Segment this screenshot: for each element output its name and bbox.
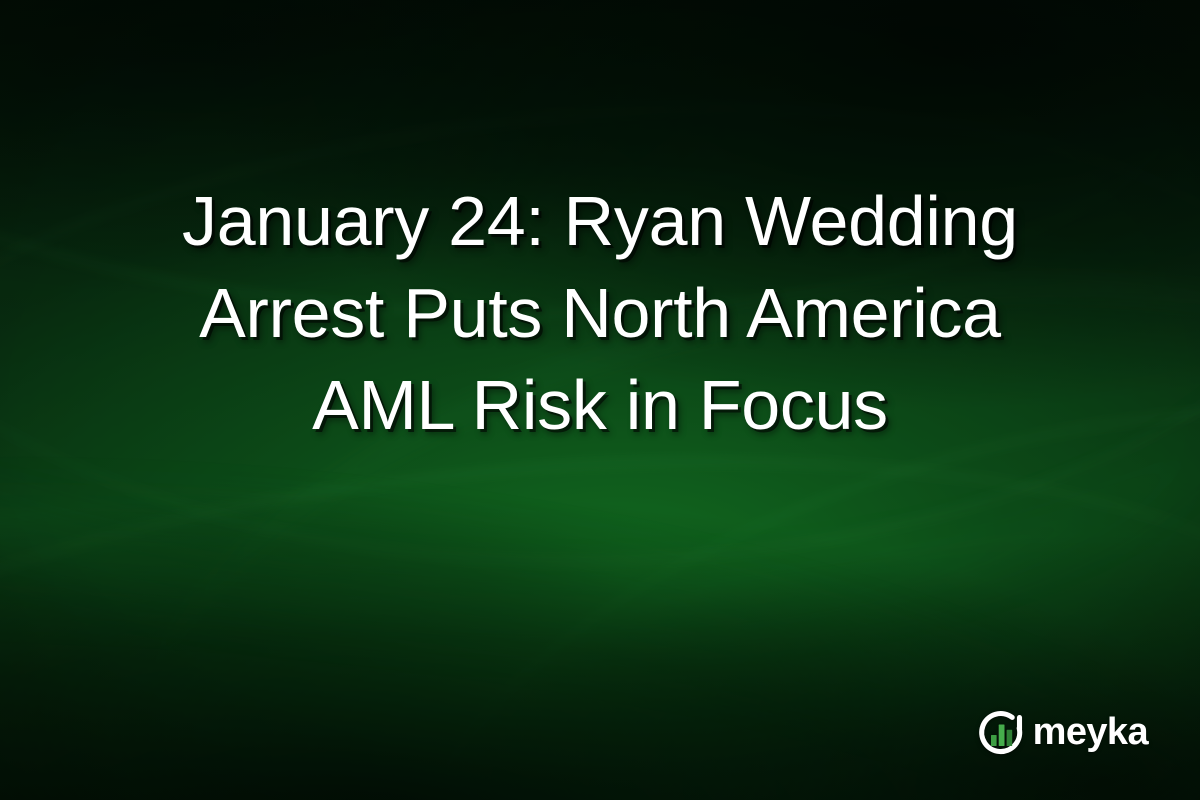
page-title-line-2: Arrest Puts North America <box>60 267 1140 359</box>
page-title-line-3: AML Risk in Focus <box>60 359 1140 451</box>
brand-name-label: meyka <box>1033 713 1148 754</box>
logo-bar-left <box>991 735 997 746</box>
meyka-logo-icon <box>978 709 1026 757</box>
page-title: January 24: Ryan Wedding Arrest Puts Nor… <box>0 175 1200 451</box>
article-share-card: January 24: Ryan Wedding Arrest Puts Nor… <box>0 0 1200 800</box>
logo-bar-middle <box>998 725 1004 747</box>
logo-bar-right <box>1006 730 1012 746</box>
brand-logo: meyka <box>978 709 1148 757</box>
page-title-line-1: January 24: Ryan Wedding <box>60 175 1140 267</box>
